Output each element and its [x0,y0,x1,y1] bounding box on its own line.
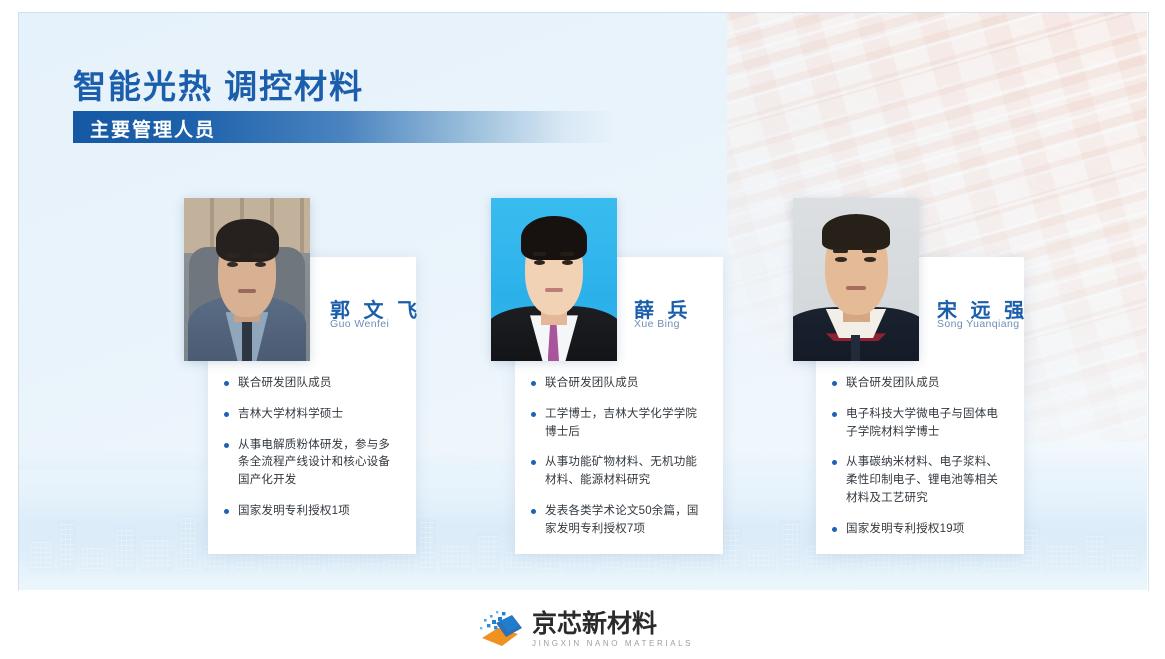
list-item: 从事功能矿物材料、无机功能材料、能源材料研究 [530,454,708,490]
person-bullet-list: 联合研发团队成员 吉林大学材料学硕士 从事电解质粉体研发，参与多条全流程产线设计… [223,375,401,534]
bullet-dot-icon [531,509,536,514]
list-item-text: 电子科技大学微电子与固体电子学院材料学博士 [846,408,998,438]
slide-footer: 京芯新材料 JINGXIN NANO MATERIALS [0,591,1165,659]
list-item-text: 国家发明专利授权19项 [846,523,965,535]
slide-canvas: 智能光热 调控材料 主要管理人员 郭 文 飞 Guo Wenfei 联合研发团队… [18,12,1147,590]
bullet-dot-icon [832,460,837,465]
person-name-en: Xue Bing [634,318,680,330]
company-name-cn: 京芯新材料 [532,612,693,637]
subtitle-bar: 主要管理人员 [73,111,618,143]
company-name-block: 京芯新材料 JINGXIN NANO MATERIALS [532,612,693,648]
person-bullet-list: 联合研发团队成员 工学博士，吉林大学化学学院博士后 从事功能矿物材料、无机功能材… [530,375,708,552]
list-item: 从事碳纳米材料、电子浆料、柔性印制电子、锂电池等相关材料及工艺研究 [831,454,1009,507]
list-item-text: 吉林大学材料学硕士 [238,408,343,420]
person-bullet-list: 联合研发团队成员 电子科技大学微电子与固体电子学院材料学博士 从事碳纳米材料、电… [831,375,1009,552]
company-name-en: JINGXIN NANO MATERIALS [532,640,693,648]
list-item-text: 国家发明专利授权1项 [238,505,350,517]
list-item: 吉林大学材料学硕士 [223,406,401,424]
bullet-dot-icon [224,381,229,386]
list-item: 联合研发团队成员 [831,375,1009,393]
list-item: 国家发明专利授权19项 [831,521,1009,539]
list-item-text: 发表各类学术论文50余篇，国家发明专利授权7项 [545,505,699,535]
person-photo [184,198,310,361]
bullet-dot-icon [832,527,837,532]
list-item: 工学博士，吉林大学化学学院博士后 [530,406,708,442]
list-item-text: 工学博士，吉林大学化学学院博士后 [545,408,697,438]
jingxin-logo-icon [478,610,522,650]
list-item-text: 从事电解质粉体研发，参与多条全流程产线设计和核心设备国产化开发 [238,439,390,487]
bullet-dot-icon [224,412,229,417]
person-name-en: Song Yuanqiang [937,318,1019,330]
list-item-text: 联合研发团队成员 [846,377,940,389]
list-item-text: 联合研发团队成员 [238,377,332,389]
bullet-dot-icon [224,443,229,448]
bullet-dot-icon [531,412,536,417]
list-item: 联合研发团队成员 [530,375,708,393]
list-item: 国家发明专利授权1项 [223,503,401,521]
company-logo: 京芯新材料 JINGXIN NANO MATERIALS [478,610,693,650]
bullet-dot-icon [224,509,229,514]
list-item-text: 从事功能矿物材料、无机功能材料、能源材料研究 [545,456,697,486]
list-item-text: 联合研发团队成员 [545,377,639,389]
list-item-text: 从事碳纳米材料、电子浆料、柔性印制电子、锂电池等相关材料及工艺研究 [846,456,998,504]
bullet-dot-icon [832,381,837,386]
person-name-en: Guo Wenfei [330,318,389,330]
bullet-dot-icon [832,412,837,417]
presentation-slide: 智能光热 调控材料 主要管理人员 郭 文 飞 Guo Wenfei 联合研发团队… [0,0,1165,659]
list-item: 联合研发团队成员 [223,375,401,393]
bullet-dot-icon [531,460,536,465]
person-photo [793,198,919,361]
person-photo [491,198,617,361]
list-item: 从事电解质粉体研发，参与多条全流程产线设计和核心设备国产化开发 [223,437,401,490]
page-title: 智能光热 调控材料 [73,60,364,108]
bullet-dot-icon [531,381,536,386]
subtitle-text: 主要管理人员 [90,115,216,142]
list-item: 电子科技大学微电子与固体电子学院材料学博士 [831,406,1009,442]
list-item: 发表各类学术论文50余篇，国家发明专利授权7项 [530,503,708,539]
